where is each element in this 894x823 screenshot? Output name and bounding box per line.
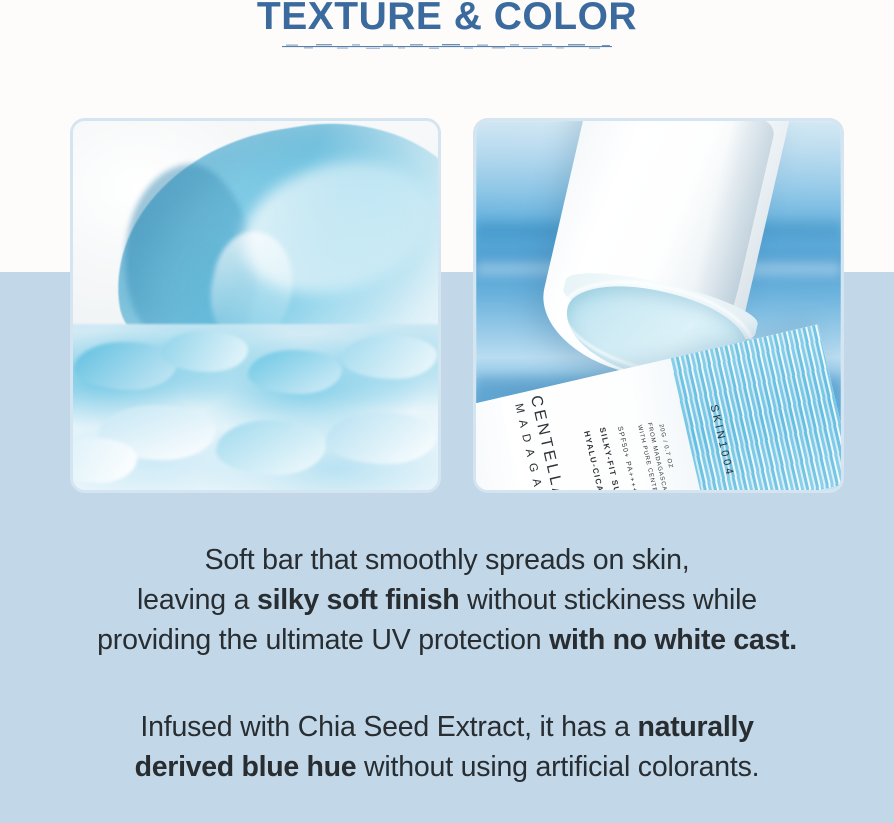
- p1-line3-a: providing the ultimate UV protection: [97, 624, 549, 656]
- product-photo-card: M A D A G A S C A R CENTELLA HYALU-CICA …: [473, 118, 844, 493]
- brush-rule-icon: [282, 42, 612, 51]
- texture-closeup-card: [70, 118, 441, 493]
- texture-closeup-photo: [73, 121, 438, 490]
- page-title: TEXTURE & COLOR: [0, 0, 894, 40]
- description-paragraph-2: Infused with Chia Seed Extract, it has a…: [0, 707, 894, 787]
- cream-flakes: [73, 324, 438, 490]
- p2-line1-a: Infused with Chia Seed Extract, it has a: [140, 711, 637, 743]
- p2-bold-naturally: naturally: [638, 711, 754, 743]
- description-block: Soft bar that smoothly spreads on skin, …: [0, 540, 894, 787]
- section-header: TEXTURE & COLOR: [0, 0, 894, 51]
- product-photo: M A D A G A S C A R CENTELLA HYALU-CICA …: [476, 121, 841, 490]
- p1-line2-a: leaving a: [137, 584, 257, 616]
- p1-bold-no-white-cast: with no white cast.: [549, 624, 797, 656]
- p1-line1: Soft bar that smoothly spreads on skin,: [205, 544, 690, 576]
- image-gallery: M A D A G A S C A R CENTELLA HYALU-CICA …: [70, 118, 844, 493]
- p2-line2-b: without using artificial colorants.: [356, 751, 759, 783]
- p1-bold-silky-soft-finish: silky soft finish: [257, 584, 459, 616]
- p2-bold-derived-blue-hue: derived blue hue: [135, 751, 357, 783]
- description-paragraph-1: Soft bar that smoothly spreads on skin, …: [0, 540, 894, 660]
- carton-line-spf: SPF50+ PA++++: [616, 426, 638, 490]
- marketing-page: TEXTURE & COLOR: [0, 0, 894, 823]
- p1-line2-b: without stickiness while: [459, 584, 757, 616]
